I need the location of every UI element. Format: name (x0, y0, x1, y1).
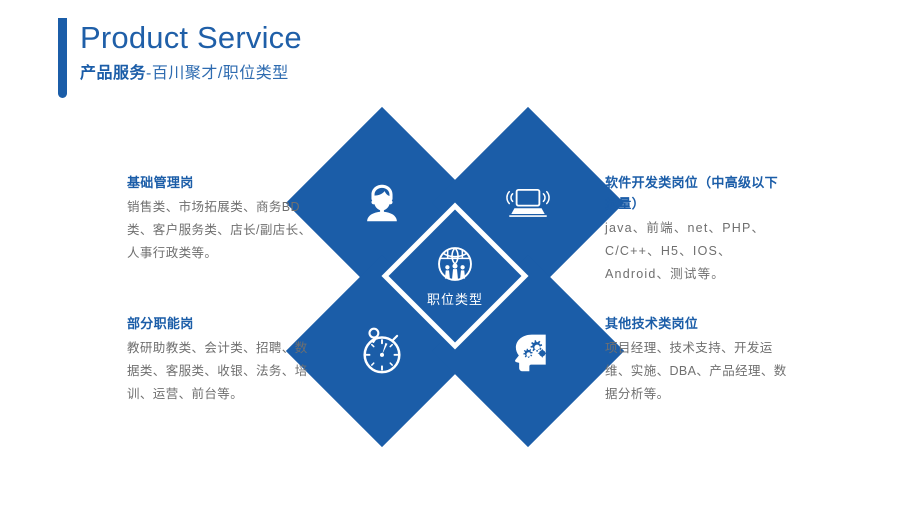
text-block-top-left: 基础管理岗 销售类、市场拓展类、商务BD类、客户服务类、店长/副店长、人事行政类… (127, 172, 312, 265)
text-block-bottom-right-body: 项目经理、技术支持、开发运维、实施、DBA、产品经理、数据分析等。 (605, 337, 787, 406)
page-subtitle-strong: 产品服务 (80, 65, 146, 82)
diamond-center[interactable]: 职位类型 (389, 210, 522, 343)
diamond-center-inner: 职位类型 (408, 229, 502, 323)
header-title-wrap: Product Service 产品服务-百川聚才/职位类型 (80, 18, 302, 84)
page-subtitle: 产品服务-百川聚才/职位类型 (80, 64, 302, 84)
head-gears-icon (502, 325, 554, 377)
text-block-bottom-right: 其他技术类岗位 项目经理、技术支持、开发运维、实施、DBA、产品经理、数据分析等… (605, 313, 787, 406)
diamond-cluster: 职位类型 (310, 133, 600, 428)
text-block-bottom-left-heading: 部分职能岗 (127, 313, 312, 334)
header-accent-bar (58, 18, 67, 98)
text-block-top-left-heading: 基础管理岗 (127, 172, 312, 193)
text-block-top-right: 软件开发类岗位（中高级以下批量） java、前端、net、PHP、C/C++、H… (605, 172, 787, 286)
text-block-bottom-left-body: 教研助教类、会计类、招聘、数据类、客服类、收银、法务、培训、运营、前台等。 (127, 337, 312, 406)
text-block-bottom-left: 部分职能岗 教研助教类、会计类、招聘、数据类、客服类、收银、法务、培训、运营、前… (127, 313, 312, 406)
page-subtitle-rest: -百川聚才/职位类型 (146, 65, 289, 82)
center-label: 职位类型 (427, 289, 483, 308)
text-block-bottom-right-heading: 其他技术类岗位 (605, 313, 787, 334)
laptop-wifi-icon (500, 181, 556, 225)
text-block-top-right-heading: 软件开发类岗位（中高级以下批量） (605, 172, 787, 214)
headset-agent-icon (359, 180, 405, 226)
stopwatch-icon (357, 325, 407, 377)
globe-people-icon (436, 245, 474, 283)
page-header: Product Service 产品服务-百川聚才/职位类型 (58, 18, 478, 106)
page-title: Product Service (80, 18, 302, 58)
text-block-top-left-body: 销售类、市场拓展类、商务BD类、客户服务类、店长/副店长、人事行政类等。 (127, 196, 312, 265)
text-block-top-right-body: java、前端、net、PHP、C/C++、H5、IOS、Android、测试等… (605, 217, 787, 286)
